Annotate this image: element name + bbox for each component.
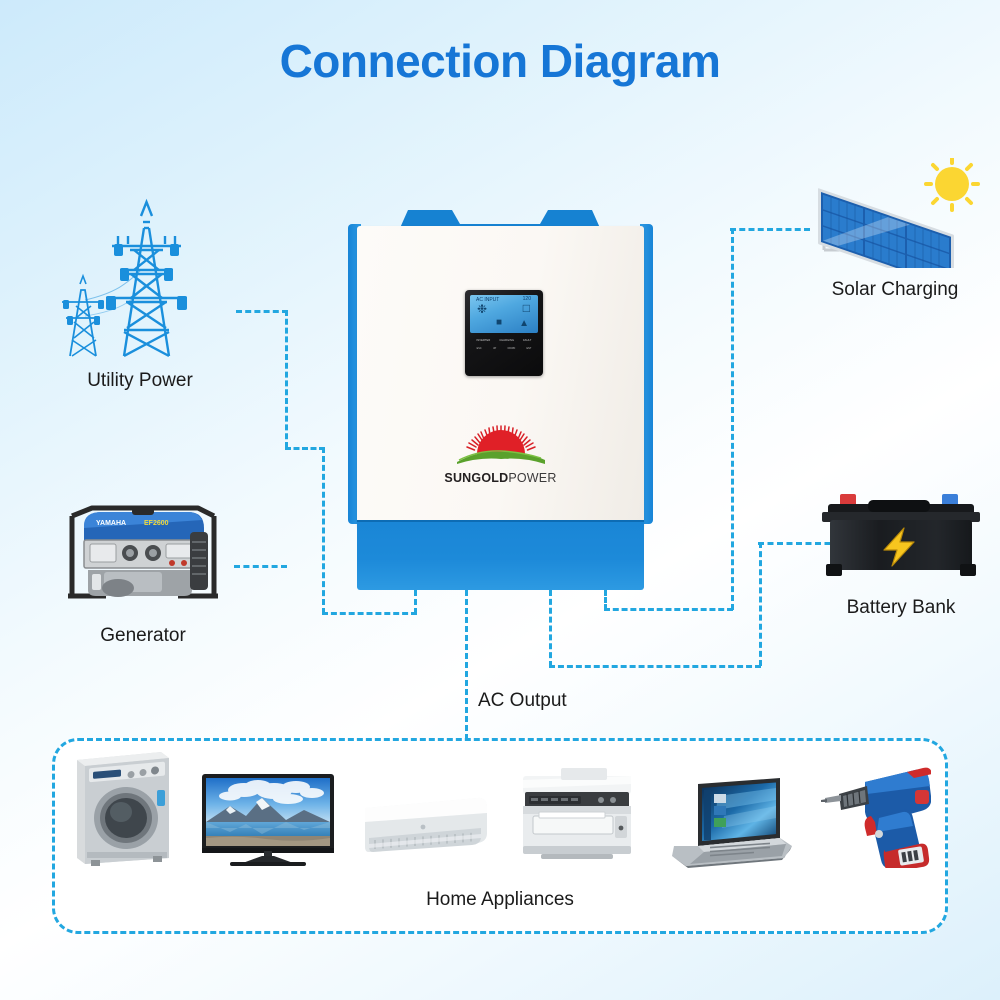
svg-text:EF2600: EF2600 (144, 520, 169, 527)
wire-solar-horizontal-top (730, 228, 810, 231)
button-row[interactable]: ESC UP DOWN ENT (470, 347, 538, 350)
appliance-washing-machine[interactable] (69, 746, 177, 873)
sungold-logo: SUNGOLDPOWER (436, 424, 566, 485)
button-up[interactable]: UP (493, 347, 496, 350)
laptop-icon (664, 776, 796, 868)
wire-battery-horizontal-bottom (549, 665, 761, 668)
wire-ac-output-vertical (465, 590, 468, 740)
appliance-row (69, 753, 931, 873)
solar-panel-icon (800, 158, 990, 268)
led-indicator-row: INVERTER CHARGING FAULT (470, 339, 538, 342)
power-drill-icon (819, 760, 931, 868)
wire-utility-horizontal-top (236, 310, 288, 313)
solar-charging-label: Solar Charging (800, 279, 990, 301)
logo-wordmark: SUNGOLDPOWER (436, 471, 566, 485)
home-appliances-box: Home Appliances (52, 738, 948, 934)
washing-machine-icon (69, 746, 177, 868)
wire-solar-into-inverter (604, 590, 607, 610)
appliance-air-conditioner[interactable] (359, 794, 491, 873)
utility-power-label: Utility Power (40, 370, 240, 392)
wire-utility-vertical (285, 310, 288, 448)
printer-icon (515, 758, 641, 868)
sun-icon (926, 158, 978, 210)
voltage-icon: □ (523, 302, 530, 314)
load-icon: ▲ (519, 319, 529, 329)
fan-icon: ❉ (477, 303, 487, 315)
led-inverter: INVERTER (476, 339, 490, 342)
appliance-printer[interactable] (515, 758, 641, 873)
led-fault: FAULT (523, 339, 531, 342)
control-panel[interactable]: AC INPUT 120 ❉ □ ■ ▲ INVERTER CHARGING (465, 290, 543, 376)
wire-utility-inverter-stub (414, 590, 417, 614)
led-charging: CHARGING (499, 339, 514, 342)
wire-solar-horizontal-bottom (604, 608, 733, 611)
battery-level-icon: ■ (496, 318, 502, 328)
page-title: Connection Diagram (0, 34, 1000, 88)
wire-utility-into-inverter (322, 612, 417, 615)
air-conditioner-icon (359, 794, 491, 868)
wire-solar-vertical (731, 228, 734, 610)
logo-sungold: SUNGOLD (444, 471, 508, 485)
transmission-tower-icon (40, 186, 240, 361)
sun-hill-logo-mark (455, 424, 547, 470)
appliance-power-drill[interactable] (819, 760, 931, 873)
portable-generator-icon: YAMAHA EF2600 (48, 492, 238, 612)
button-down[interactable]: DOWN (508, 347, 516, 350)
node-generator[interactable]: YAMAHA EF2600 Generator (48, 492, 238, 647)
node-battery-bank[interactable]: Battery Bank (812, 492, 990, 619)
wire-battery-into-inverter (549, 590, 552, 667)
appliance-laptop[interactable] (664, 776, 796, 873)
inverter-base-panel (357, 522, 644, 590)
inverter-unit[interactable]: AC INPUT 120 ❉ □ ■ ▲ INVERTER CHARGING (348, 210, 653, 590)
television-icon (200, 772, 336, 868)
wire-utility-horizontal-mid (285, 447, 325, 450)
logo-power: POWER (508, 471, 556, 485)
node-solar-charging[interactable]: Solar Charging (800, 158, 990, 301)
lcd-display: AC INPUT 120 ❉ □ ■ ▲ (470, 295, 538, 333)
battery-bank-label: Battery Bank (812, 597, 990, 619)
ac-output-label: AC Output (478, 690, 567, 712)
generator-label: Generator (48, 625, 238, 647)
node-utility-power[interactable]: Utility Power (40, 186, 240, 392)
battery-icon (812, 492, 990, 584)
wire-generator-horizontal (234, 565, 287, 568)
button-esc[interactable]: ESC (477, 347, 482, 350)
svg-text:YAMAHA: YAMAHA (96, 520, 126, 527)
wire-utility-to-inverter-vertical (322, 447, 325, 614)
appliance-television[interactable] (200, 772, 336, 873)
button-enter[interactable]: ENT (527, 347, 532, 350)
diagram-canvas: Connection Diagram (0, 0, 1000, 1000)
home-appliances-label: Home Appliances (55, 889, 945, 911)
wire-battery-vertical (759, 542, 762, 666)
inverter-body: AC INPUT 120 ❉ □ ■ ▲ INVERTER CHARGING (357, 226, 644, 528)
